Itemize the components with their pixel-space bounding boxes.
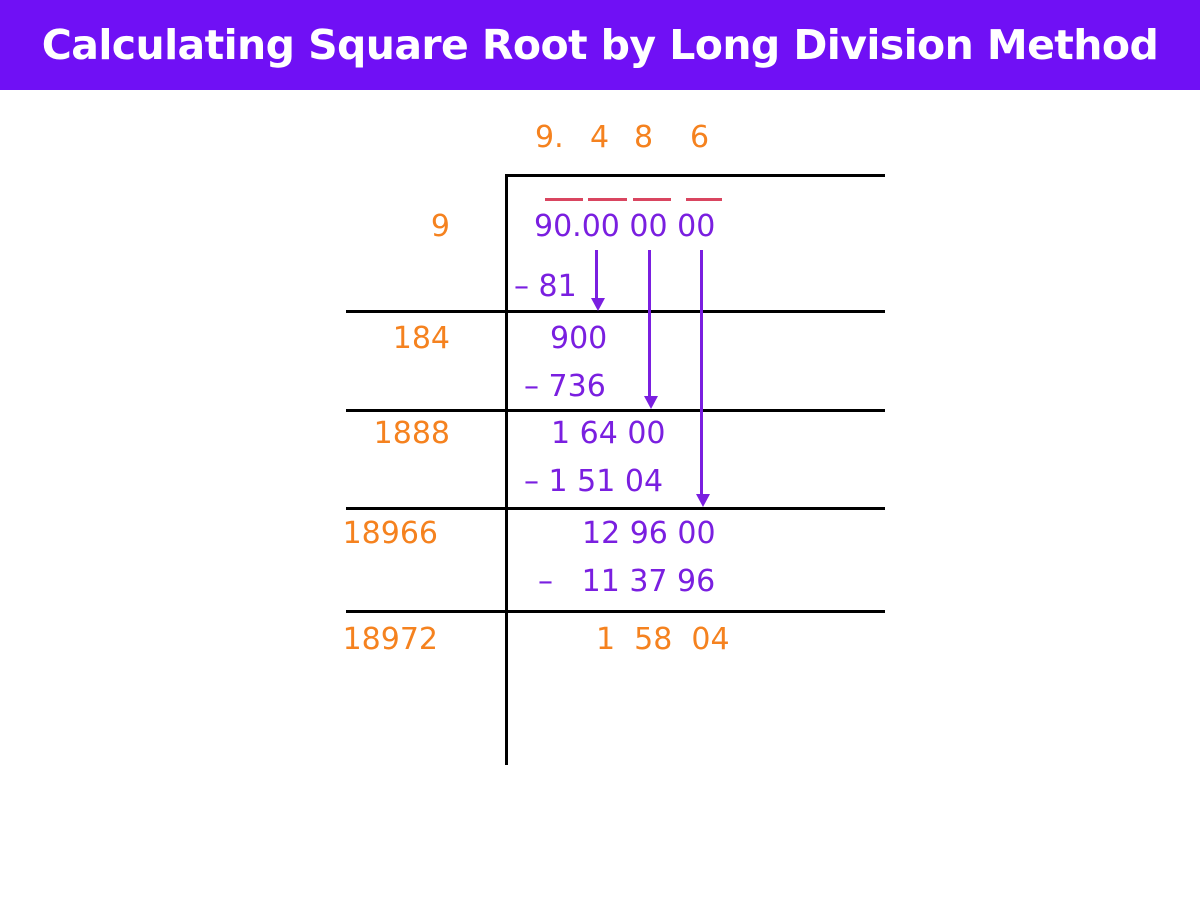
bring-down-arrow-3-shaft (700, 250, 703, 498)
bring-down-arrow-2-head (644, 396, 658, 409)
division-bracket-vertical-rule (505, 174, 508, 765)
quotient-digit-1: 9. (535, 123, 564, 153)
divisor-step-3: 1888 (290, 419, 450, 449)
pair-bar-4 (686, 198, 722, 201)
page-title: Calculating Square Root by Long Division… (42, 25, 1158, 66)
step-rule-1 (346, 310, 885, 313)
header-banner: Calculating Square Root by Long Division… (0, 0, 1200, 90)
product-step-2: – 736 (524, 372, 606, 402)
remainder-final: 1 58 04 (596, 625, 730, 655)
pair-bar-1 (545, 198, 583, 201)
dividend: 90.00 00 00 (534, 212, 715, 242)
division-bracket-top-rule (505, 174, 885, 177)
divisor-step-4: 18966 (278, 519, 438, 549)
divisor-step-1: 9 (290, 212, 450, 242)
step-rule-3 (346, 507, 885, 510)
bring-down-arrow-1-head (591, 298, 605, 311)
product-step-1: – 81 (514, 272, 577, 302)
step-rule-2 (346, 409, 885, 412)
long-division-worksheet: 9. 4 8 6 9 90.00 00 00 – 81 184 900 – 73… (0, 90, 1200, 900)
divisor-step-2: 184 (290, 324, 450, 354)
step-rule-4 (346, 610, 885, 613)
quotient-digit-4: 6 (690, 123, 709, 153)
remainder-step-4: 12 96 00 (582, 519, 716, 549)
product-step-3: – 1 51 04 (524, 467, 663, 497)
remainder-step-2: 900 (550, 324, 607, 354)
quotient-digit-2: 4 (590, 123, 609, 153)
bring-down-arrow-3-head (696, 494, 710, 507)
bring-down-arrow-2-shaft (648, 250, 651, 400)
bring-down-arrow-1-shaft (595, 250, 598, 302)
quotient-digit-3: 8 (634, 123, 653, 153)
divisor-final: 18972 (278, 625, 438, 655)
remainder-step-3: 1 64 00 (551, 419, 666, 449)
pair-bar-2 (588, 198, 627, 201)
pair-bar-3 (633, 198, 671, 201)
product-step-4: – 11 37 96 (538, 567, 715, 597)
